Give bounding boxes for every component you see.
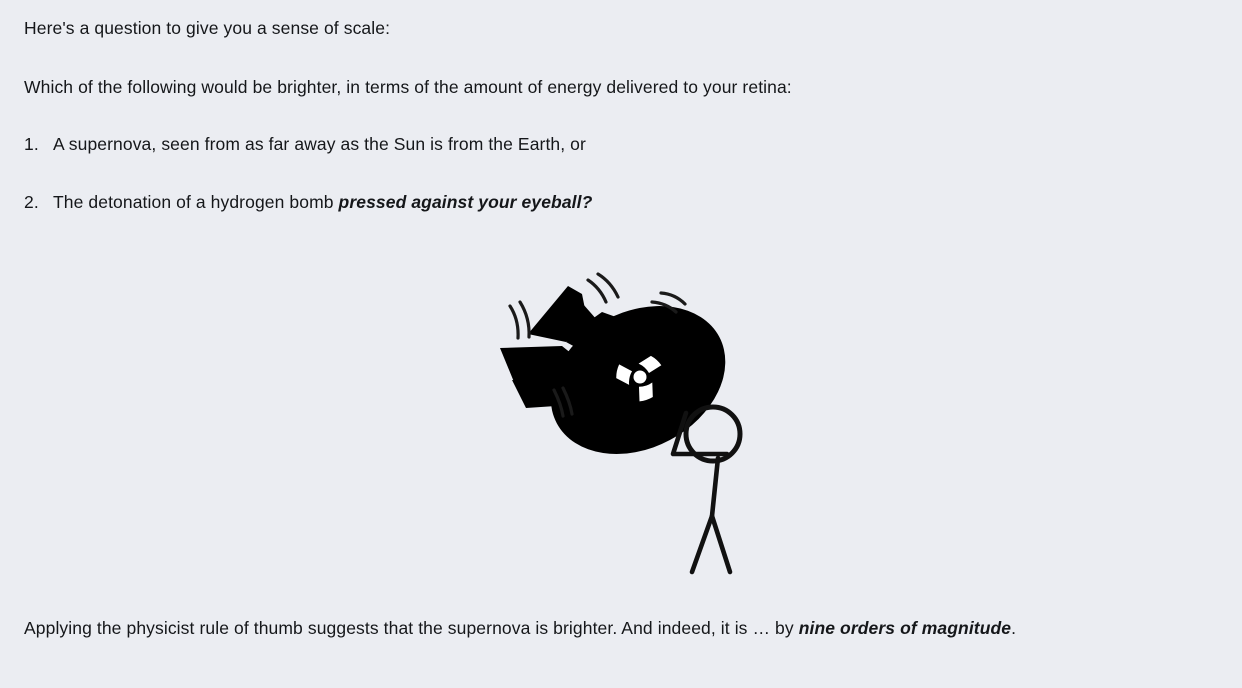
article-page: Here's a question to give you a sense of… — [0, 0, 1242, 688]
stick-figure-legs — [692, 516, 730, 572]
stick-figure-body — [712, 458, 718, 516]
conclusion-lead: Applying the physicist rule of thumb sug… — [24, 618, 799, 638]
bomb-eyeball-illustration — [470, 258, 790, 598]
list-item-text: The detonation of a hydrogen bomb — [53, 192, 339, 212]
list-item-emphasis: pressed against your eyeball? — [339, 192, 593, 212]
list-item-text: A supernova, seen from as far away as th… — [53, 134, 586, 154]
intro-paragraph: Here's a question to give you a sense of… — [24, 14, 1204, 42]
list-item: 2.The detonation of a hydrogen bomb pres… — [24, 188, 1174, 216]
list-item-marker: 1. — [24, 130, 39, 158]
list-item-marker: 2. — [24, 188, 39, 216]
conclusion-emphasis: nine orders of magnitude — [799, 618, 1011, 638]
conclusion-tail: . — [1011, 618, 1016, 638]
choice-list: 1.A supernova, seen from as far away as … — [24, 130, 1174, 247]
conclusion-paragraph: Applying the physicist rule of thumb sug… — [24, 614, 1210, 642]
list-item: 1.A supernova, seen from as far away as … — [24, 130, 1174, 158]
question-paragraph: Which of the following would be brighter… — [24, 73, 1204, 101]
